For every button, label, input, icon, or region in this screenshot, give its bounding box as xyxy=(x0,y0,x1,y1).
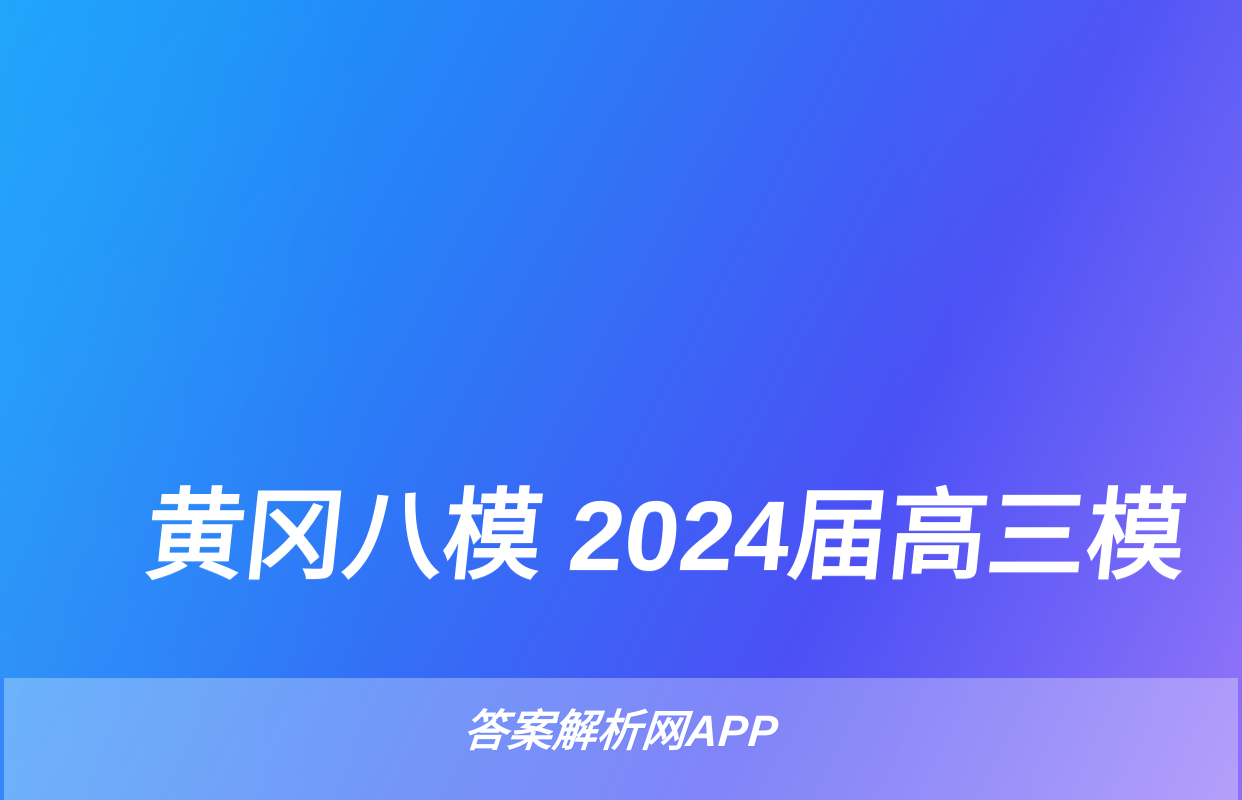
page-title-line-1: 黄冈八模 2024届高三模 xyxy=(111,466,1222,606)
title-card-canvas: 黄冈八模 2024届高三模 拟测试卷(一)1历史(湖南 )答案 答案解析网APP xyxy=(0,0,1242,800)
footer-brand-wordmark: 答案解析网APP xyxy=(0,706,1242,758)
